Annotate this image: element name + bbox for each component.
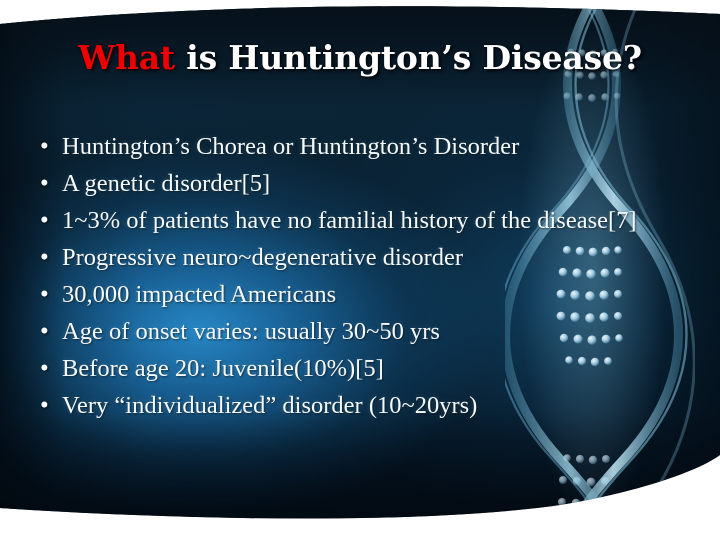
bullet-point-icon: • [40,241,62,275]
list-item: • Huntington’s Chorea or Huntington’s Di… [40,130,660,164]
list-item: • 1~3% of patients have no familial hist… [40,204,660,238]
bullet-point-icon: • [40,315,62,349]
list-item-text: Huntington’s Chorea or Huntington’s Diso… [62,130,660,164]
bullet-point-icon: • [40,278,62,312]
list-item: • Before age 20: Juvenile(10%)[5] [40,352,660,386]
bullet-list: • Huntington’s Chorea or Huntington’s Di… [40,130,660,426]
bullet-point-icon: • [40,167,62,201]
slide-title: What is Huntington’s Disease? [0,38,720,77]
list-item: • A genetic disorder[5] [40,167,660,201]
list-item: • 30,000 impacted Americans [40,278,660,312]
bullet-point-icon: • [40,204,62,238]
list-item-text: Very “individualized” disorder (10~20yrs… [62,389,660,423]
slide-canvas: What is Huntington’s Disease? • Huntingt… [0,0,720,540]
list-item-text: Progressive neuro~degenerative disorder [62,241,660,275]
list-item: • Progressive neuro~degenerative disorde… [40,241,660,275]
list-item-text: 1~3% of patients have no familial histor… [62,204,660,238]
list-item-text: Before age 20: Juvenile(10%)[5] [62,352,660,386]
list-item: • Very “individualized” disorder (10~20y… [40,389,660,423]
slide-title-highlight: What [78,38,175,77]
list-item-text: Age of onset varies: usually 30~50 yrs [62,315,660,349]
slide-title-rest: is Huntington’s Disease? [175,38,642,77]
list-item-text: 30,000 impacted Americans [62,278,660,312]
bullet-point-icon: • [40,352,62,386]
bullet-point-icon: • [40,389,62,423]
list-item: • Age of onset varies: usually 30~50 yrs [40,315,660,349]
list-item-text: A genetic disorder[5] [62,167,660,201]
bullet-point-icon: • [40,130,62,164]
